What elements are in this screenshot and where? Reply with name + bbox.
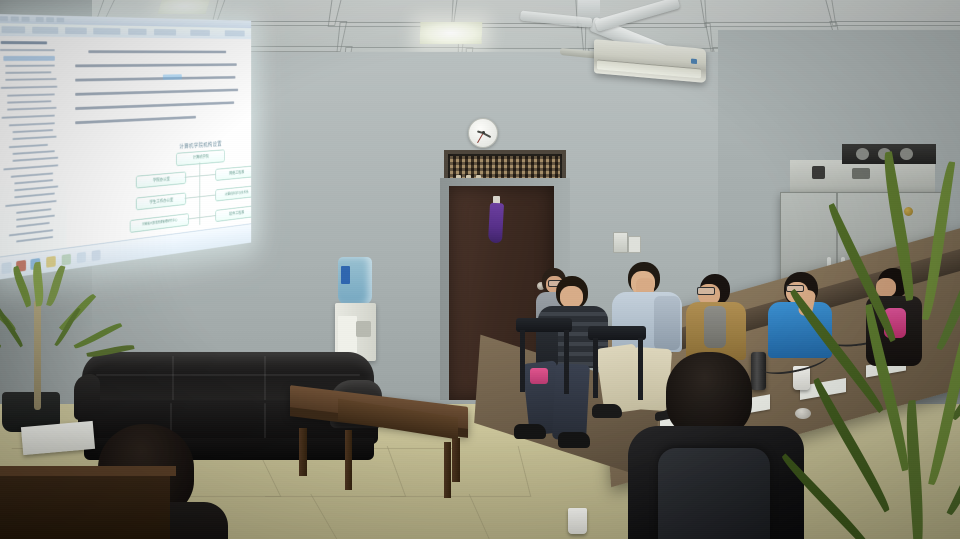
pink-bag (530, 368, 548, 384)
coffee-table-leg (299, 428, 307, 476)
office-chair-back[interactable] (658, 448, 770, 539)
org-node-right-2: 计算机科学与技术系 (215, 185, 251, 201)
chair-leg (593, 338, 598, 398)
org-node-right-3: 软件工程系 (215, 205, 251, 222)
leg (552, 363, 590, 441)
water-bottle (338, 257, 372, 305)
org-node-left-1: 学院办公室 (136, 171, 186, 188)
document-navigation-pane[interactable] (0, 36, 68, 258)
chair-leg (520, 330, 525, 392)
shoe (514, 424, 546, 439)
water-bottle-label (341, 266, 350, 284)
ceiling-light-panel (158, 0, 211, 14)
coffee-table-leg (452, 438, 460, 482)
light-switch[interactable] (613, 232, 628, 253)
glasses-icon (697, 287, 715, 295)
potted-plant-left (0, 248, 112, 358)
cabinet-small-box (852, 168, 870, 179)
side-table-leg (345, 430, 352, 490)
coffee-cup[interactable] (568, 508, 587, 534)
side-table-leg (444, 442, 451, 498)
face (560, 286, 583, 308)
chair-leg (564, 330, 569, 394)
shoe (592, 404, 622, 418)
projected-presentation: 计算机学院机构设置 计算机学院 学院办公室 网络工程系 学生工作办公室 计算机科… (0, 14, 251, 280)
arm (654, 296, 680, 350)
foreground-desk[interactable] (0, 470, 170, 539)
org-node-left-3: 河南省大数据资源管理研究中心 (130, 213, 189, 233)
wall-clock (468, 118, 498, 148)
org-node-root: 计算机学院 (176, 149, 225, 166)
org-node-right-1: 网络工程系 (215, 165, 251, 181)
org-chart-title: 计算机学院机构设置 (154, 138, 245, 152)
foreground-desk-edge (0, 466, 176, 476)
door-cloth (488, 203, 504, 244)
potted-plant-right (876, 150, 960, 539)
ceiling-light-panel (420, 22, 483, 44)
computer-mouse[interactable] (795, 408, 811, 419)
air-conditioner-indicator-icon (691, 59, 697, 65)
shoe (558, 432, 590, 448)
cabinet-small-box (812, 166, 825, 179)
document-body[interactable]: 计算机学院机构设置 计算机学院 学院办公室 网络工程系 学生工作办公室 计算机科… (67, 37, 251, 249)
chair-leg (638, 338, 643, 400)
water-dispenser-tap-icon[interactable] (356, 321, 371, 337)
wall-socket[interactable] (628, 236, 641, 253)
org-node-left-2: 学生工作办公室 (136, 192, 186, 210)
inner-shirt (704, 306, 726, 348)
meeting-room-photo: 计算机学院机构设置 计算机学院 学院办公室 网络工程系 学生工作办公室 计算机科… (0, 0, 960, 539)
water-dispenser-panel (338, 316, 357, 356)
